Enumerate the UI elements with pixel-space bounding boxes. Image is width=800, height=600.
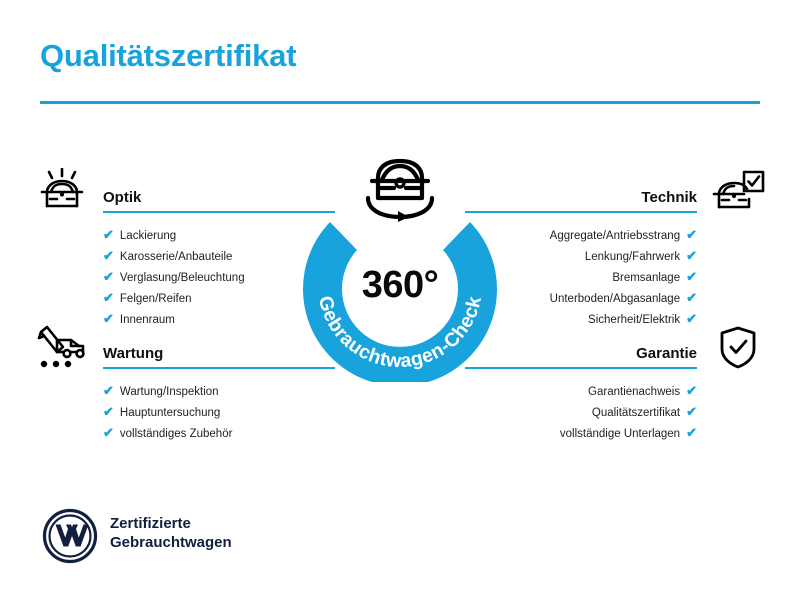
check-icon: ✔: [103, 225, 114, 244]
page-title: Qualitätszertifikat: [40, 38, 296, 74]
list-item: Bremsanlage✔: [465, 267, 765, 288]
list-item-label: Garantienachweis: [588, 383, 680, 402]
check-icon: ✔: [686, 225, 697, 244]
check-icon: ✔: [103, 267, 114, 286]
check-icon: ✔: [686, 402, 697, 421]
list-item: ✔Felgen/Reifen: [35, 288, 335, 309]
car-service-pen-icon: [35, 324, 89, 370]
list-item: ✔Wartung/Inspektion: [35, 381, 335, 402]
list-item: Unterboden/Abgasanlage✔: [465, 288, 765, 309]
title-divider: [40, 101, 760, 104]
list-item: Aggregate/Antriebsstrang✔: [465, 225, 765, 246]
list-item-label: Unterboden/Abgasanlage: [550, 290, 680, 309]
footer-line-2: Gebrauchtwagen: [110, 533, 232, 552]
section-optik: Optik ✔Lackierung ✔Karosserie/Anbauteile…: [35, 170, 335, 330]
section-title: Wartung: [103, 345, 163, 362]
check-icon: ✔: [686, 246, 697, 265]
section-garantie: Garantie Garantienachweis✔ Qualitätszert…: [465, 326, 765, 444]
checklist-garantie: Garantienachweis✔ Qualitätszertifikat✔ v…: [465, 372, 765, 444]
check-icon: ✔: [103, 381, 114, 400]
list-item: ✔Karosserie/Anbauteile: [35, 246, 335, 267]
car-rotate-360-icon: [354, 150, 446, 222]
car-shine-icon: [35, 168, 89, 214]
section-title: Garantie: [636, 345, 697, 362]
section-title: Technik: [641, 189, 697, 206]
list-item-label: Karosserie/Anbauteile: [120, 248, 233, 267]
list-item: Qualitätszertifikat✔: [465, 402, 765, 423]
checklist-optik: ✔Lackierung ✔Karosserie/Anbauteile ✔Verg…: [35, 216, 335, 330]
checklist-technik: Aggregate/Antriebsstrang✔ Lenkung/Fahrwe…: [465, 216, 765, 330]
list-item: ✔Verglasung/Beleuchtung: [35, 267, 335, 288]
section-header: Optik: [35, 170, 335, 216]
check-icon: ✔: [686, 423, 697, 442]
section-technik: Technik Aggregate/Antriebsstrang✔ Lenkun…: [465, 170, 765, 330]
list-item-label: Lenkung/Fahrwerk: [585, 248, 680, 267]
section-header: Technik: [465, 170, 765, 216]
section-divider: [465, 211, 697, 213]
list-item: Garantienachweis✔: [465, 381, 765, 402]
check-icon: ✔: [103, 423, 114, 442]
shield-check-icon: [711, 324, 765, 370]
list-item: vollständige Unterlagen✔: [465, 423, 765, 444]
list-item-label: Lackierung: [120, 227, 176, 246]
list-item-label: Aggregate/Antriebsstrang: [550, 227, 680, 246]
section-title: Optik: [103, 189, 141, 206]
list-item: ✔Lackierung: [35, 225, 335, 246]
list-item: ✔vollständiges Zubehör: [35, 423, 335, 444]
section-wartung: Wartung ✔Wartung/Inspektion ✔Hauptunters…: [35, 326, 335, 444]
list-item-label: Wartung/Inspektion: [120, 383, 219, 402]
checklist-wartung: ✔Wartung/Inspektion ✔Hauptuntersuchung ✔…: [35, 372, 335, 444]
section-divider: [103, 367, 335, 369]
list-item: ✔Hauptuntersuchung: [35, 402, 335, 423]
list-item-label: Felgen/Reifen: [120, 290, 192, 309]
list-item-label: Bremsanlage: [612, 269, 680, 288]
check-icon: ✔: [103, 246, 114, 265]
list-item-label: Hauptuntersuchung: [120, 404, 220, 423]
section-divider: [103, 211, 335, 213]
check-icon: ✔: [686, 267, 697, 286]
volkswagen-logo-icon: [42, 508, 98, 564]
footer-brand-text: Zertifizierte Gebrauchtwagen: [110, 514, 232, 552]
check-icon: ✔: [686, 288, 697, 307]
list-item: Lenkung/Fahrwerk✔: [465, 246, 765, 267]
check-icon: ✔: [103, 402, 114, 421]
check-icon: ✔: [103, 288, 114, 307]
car-checkbox-icon: [711, 168, 765, 214]
list-item-label: vollständiges Zubehör: [120, 425, 233, 444]
section-header: Wartung: [35, 326, 335, 372]
check-icon: ✔: [686, 381, 697, 400]
footer-line-1: Zertifizierte: [110, 514, 232, 533]
list-item-label: Qualitätszertifikat: [592, 404, 680, 423]
section-divider: [465, 367, 697, 369]
section-header: Garantie: [465, 326, 765, 372]
footer-brand: Zertifizierte Gebrauchtwagen: [42, 505, 342, 567]
list-item-label: vollständige Unterlagen: [560, 425, 680, 444]
list-item-label: Verglasung/Beleuchtung: [120, 269, 245, 288]
